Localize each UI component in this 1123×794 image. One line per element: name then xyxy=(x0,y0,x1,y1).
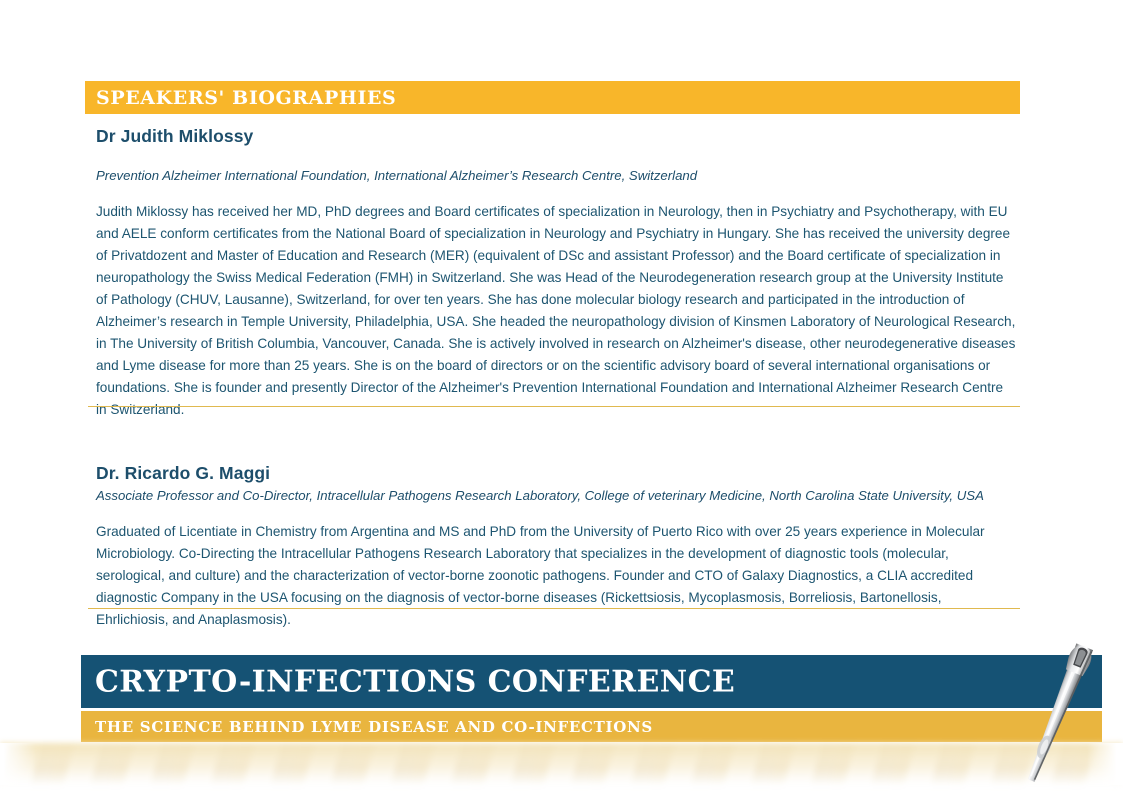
biographies-content: Dr Judith Miklossy Prevention Alzheimer … xyxy=(96,122,1017,631)
divider-rule-bottom xyxy=(88,608,1020,609)
section-header-title: SPEAKERS' BIOGRAPHIES xyxy=(85,87,396,109)
conference-subtitle: THE SCIENCE BEHIND LYME DISEASE AND CO-I… xyxy=(95,718,653,736)
conference-title: CRYPTO-INFECTIONS CONFERENCE xyxy=(95,664,735,699)
speaker-affiliation: Prevention Alzheimer International Found… xyxy=(96,166,1017,185)
speaker-name: Dr. Ricardo G. Maggi xyxy=(96,463,1017,484)
speaker-entry-maggi: Dr. Ricardo G. Maggi Associate Professor… xyxy=(96,463,1017,631)
speaker-entry-miklossy: Dr Judith Miklossy Prevention Alzheimer … xyxy=(96,122,1017,421)
speaker-biography: Judith Miklossy has received her MD, PhD… xyxy=(96,201,1017,421)
footer-strip-fade-left xyxy=(0,743,36,785)
footer-banner: CRYPTO-INFECTIONS CONFERENCE THE SCIENCE… xyxy=(0,610,1123,794)
section-spacer xyxy=(96,421,1017,463)
slide-page: SPEAKERS' BIOGRAPHIES Dr Judith Miklossy… xyxy=(0,0,1123,794)
footer-subtitle-bar: THE SCIENCE BEHIND LYME DISEASE AND CO-I… xyxy=(81,711,1102,742)
section-header-bar: SPEAKERS' BIOGRAPHIES xyxy=(85,81,1020,114)
footer-photo-strip xyxy=(0,743,1123,785)
footer-strip-fade-right xyxy=(1087,743,1123,785)
divider-rule-top xyxy=(88,406,1020,407)
speaker-affiliation: Associate Professor and Co-Director, Int… xyxy=(96,486,1017,505)
speaker-name: Dr Judith Miklossy xyxy=(96,122,1017,147)
footer-title-bar: CRYPTO-INFECTIONS CONFERENCE xyxy=(81,655,1102,708)
